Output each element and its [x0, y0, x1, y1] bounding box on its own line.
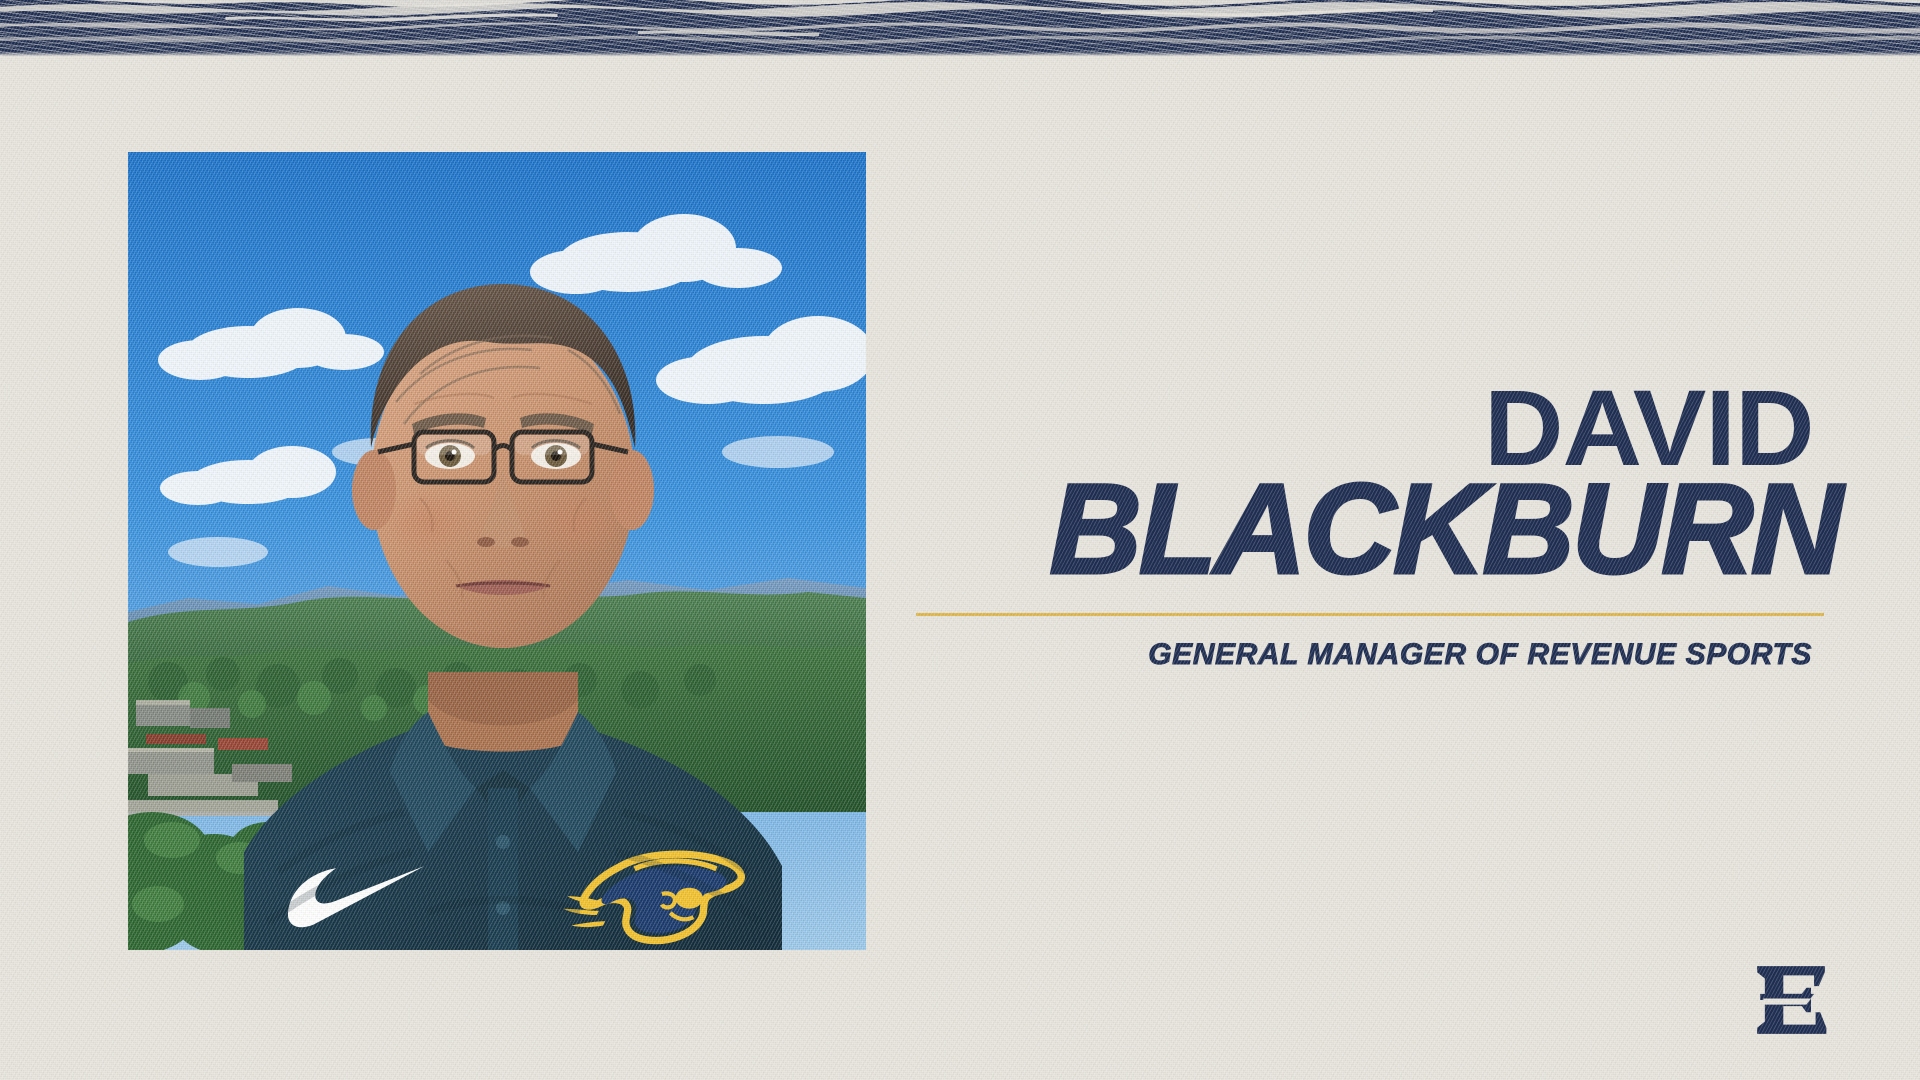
banner-bottom-fade [0, 46, 1920, 56]
name-title-block: DAVID BLACKBURN GENERAL MANAGER OF REVEN… [900, 378, 1840, 672]
last-name: BLACKBURN [900, 471, 1840, 589]
etsu-e-logo [1752, 960, 1830, 1040]
top-banner [0, 0, 1920, 56]
headshot-photo [128, 152, 866, 950]
gold-divider-rule [916, 613, 1824, 616]
job-title: GENERAL MANAGER OF REVENUE SPORTS [900, 638, 1840, 672]
graphic-canvas: DAVID BLACKBURN GENERAL MANAGER OF REVEN… [0, 0, 1920, 1080]
first-name: DAVID [881, 378, 1840, 477]
